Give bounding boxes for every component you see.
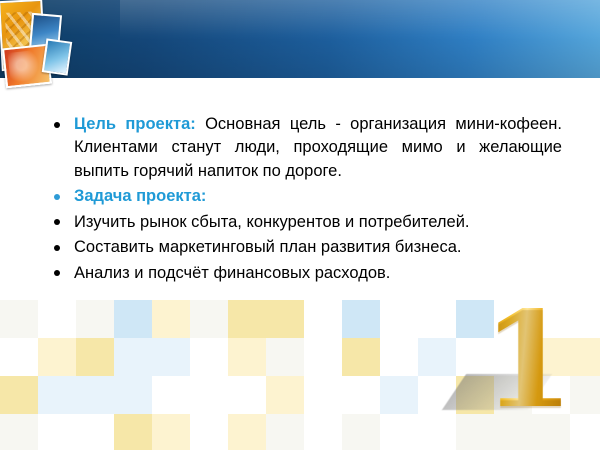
decorative-square [304, 300, 342, 338]
decorative-square [380, 338, 418, 376]
decorative-square [304, 338, 342, 376]
bullet-dot-icon [54, 194, 60, 200]
decorative-square [570, 300, 600, 338]
list-item: Составить маркетинговый план развития би… [52, 236, 562, 259]
top-banner-shine [120, 0, 600, 40]
decorative-square [228, 414, 266, 450]
bullet-dot-icon [54, 122, 60, 128]
decorative-square [114, 338, 152, 376]
bullet-dot-icon [54, 219, 60, 225]
decorative-square [0, 414, 38, 450]
bullet-dot-icon [54, 245, 60, 251]
goal-label: Цель проекта: [74, 115, 196, 133]
decorative-square [266, 376, 304, 414]
collage-photo-4 [42, 38, 72, 75]
decorative-square [266, 338, 304, 376]
decorative-square [38, 414, 76, 450]
decorative-square [38, 338, 76, 376]
decorative-square [152, 338, 190, 376]
decorative-square [342, 338, 380, 376]
decorative-square [0, 300, 38, 338]
photo-collage-image [0, 0, 72, 92]
decorative-square [418, 414, 456, 450]
decorative-square [342, 300, 380, 338]
decorative-square [228, 338, 266, 376]
bullet-dot-icon [54, 270, 60, 276]
decorative-square [418, 338, 456, 376]
bullet-list: Цель проекта: Основная цель - организаци… [52, 113, 562, 285]
top-banner [0, 0, 600, 78]
decorative-square [190, 376, 228, 414]
decorative-square [114, 376, 152, 414]
list-item: Задача проекта: [52, 185, 562, 208]
decorative-square [0, 376, 38, 414]
decorative-square [304, 376, 342, 414]
task-1-text: Изучить рынок сбыта, конкурентов и потре… [74, 213, 470, 231]
decorative-square [190, 338, 228, 376]
decorative-square [190, 300, 228, 338]
decorative-square [114, 300, 152, 338]
decorative-square [342, 414, 380, 450]
decorative-square [152, 376, 190, 414]
decorative-square [0, 338, 38, 376]
decorative-square [38, 300, 76, 338]
decorative-square [570, 376, 600, 414]
decorative-square [114, 414, 152, 450]
decorative-square [342, 376, 380, 414]
decorative-square [304, 414, 342, 450]
slide-body: Цель проекта: Основная цель - организаци… [52, 113, 562, 287]
decorative-square [380, 300, 418, 338]
decorative-square [152, 414, 190, 450]
decorative-square [76, 414, 114, 450]
decorative-square [38, 376, 76, 414]
decorative-square [570, 414, 600, 450]
slide: 1 Цель проекта: Основная цель - организа… [0, 0, 600, 450]
decorative-square [76, 376, 114, 414]
decorative-square [228, 300, 266, 338]
decorative-square [228, 376, 266, 414]
decorative-square [266, 414, 304, 450]
decorative-square [152, 300, 190, 338]
slide-number-graphic: 1 [454, 286, 574, 416]
decorative-square [570, 338, 600, 376]
decorative-square [418, 300, 456, 338]
task-2-text: Составить маркетинговый план развития би… [74, 238, 461, 256]
slide-number-digit: 1 [482, 306, 574, 416]
task-heading-label: Задача проекта: [74, 187, 206, 205]
decorative-square [380, 414, 418, 450]
task-3-text: Анализ и подсчёт финансовых расходов. [74, 264, 390, 282]
decorative-square [380, 376, 418, 414]
list-item: Цель проекта: Основная цель - организаци… [52, 113, 562, 183]
decorative-square [190, 414, 228, 450]
list-item: Анализ и подсчёт финансовых расходов. [52, 262, 562, 285]
decorative-square [76, 338, 114, 376]
list-item: Изучить рынок сбыта, конкурентов и потре… [52, 211, 562, 234]
decorative-square [76, 300, 114, 338]
decorative-square [266, 300, 304, 338]
